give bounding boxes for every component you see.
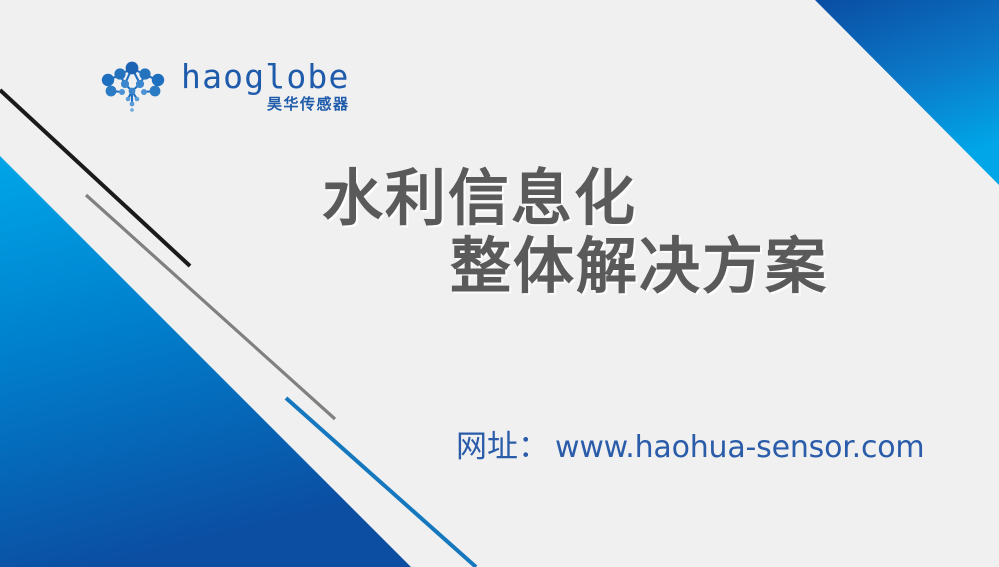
presentation-title-slide: haoglobe 昊华传感器 水利信息化 整体解决方案 网址： www.haoh… bbox=[0, 0, 999, 567]
website-url[interactable]: www.haohua-sensor.com bbox=[555, 430, 924, 465]
network-nodes-icon bbox=[98, 58, 172, 114]
logo-wordmark: haoglobe bbox=[181, 60, 350, 93]
logo-chinese-name: 昊华传感器 bbox=[267, 97, 350, 112]
website-line: 网址： www.haohua-sensor.com bbox=[456, 421, 924, 466]
corner-blue-triangle bbox=[815, 0, 999, 185]
website-label: 网址： bbox=[456, 421, 549, 466]
logo-wordmark-group: haoglobe 昊华传感器 bbox=[181, 60, 350, 112]
title-line-1: 水利信息化 bbox=[322, 165, 942, 233]
title-line-2: 整体解决方案 bbox=[322, 233, 942, 301]
company-logo: haoglobe 昊华传感器 bbox=[98, 58, 350, 114]
page-title: 水利信息化 整体解决方案 bbox=[322, 165, 942, 302]
